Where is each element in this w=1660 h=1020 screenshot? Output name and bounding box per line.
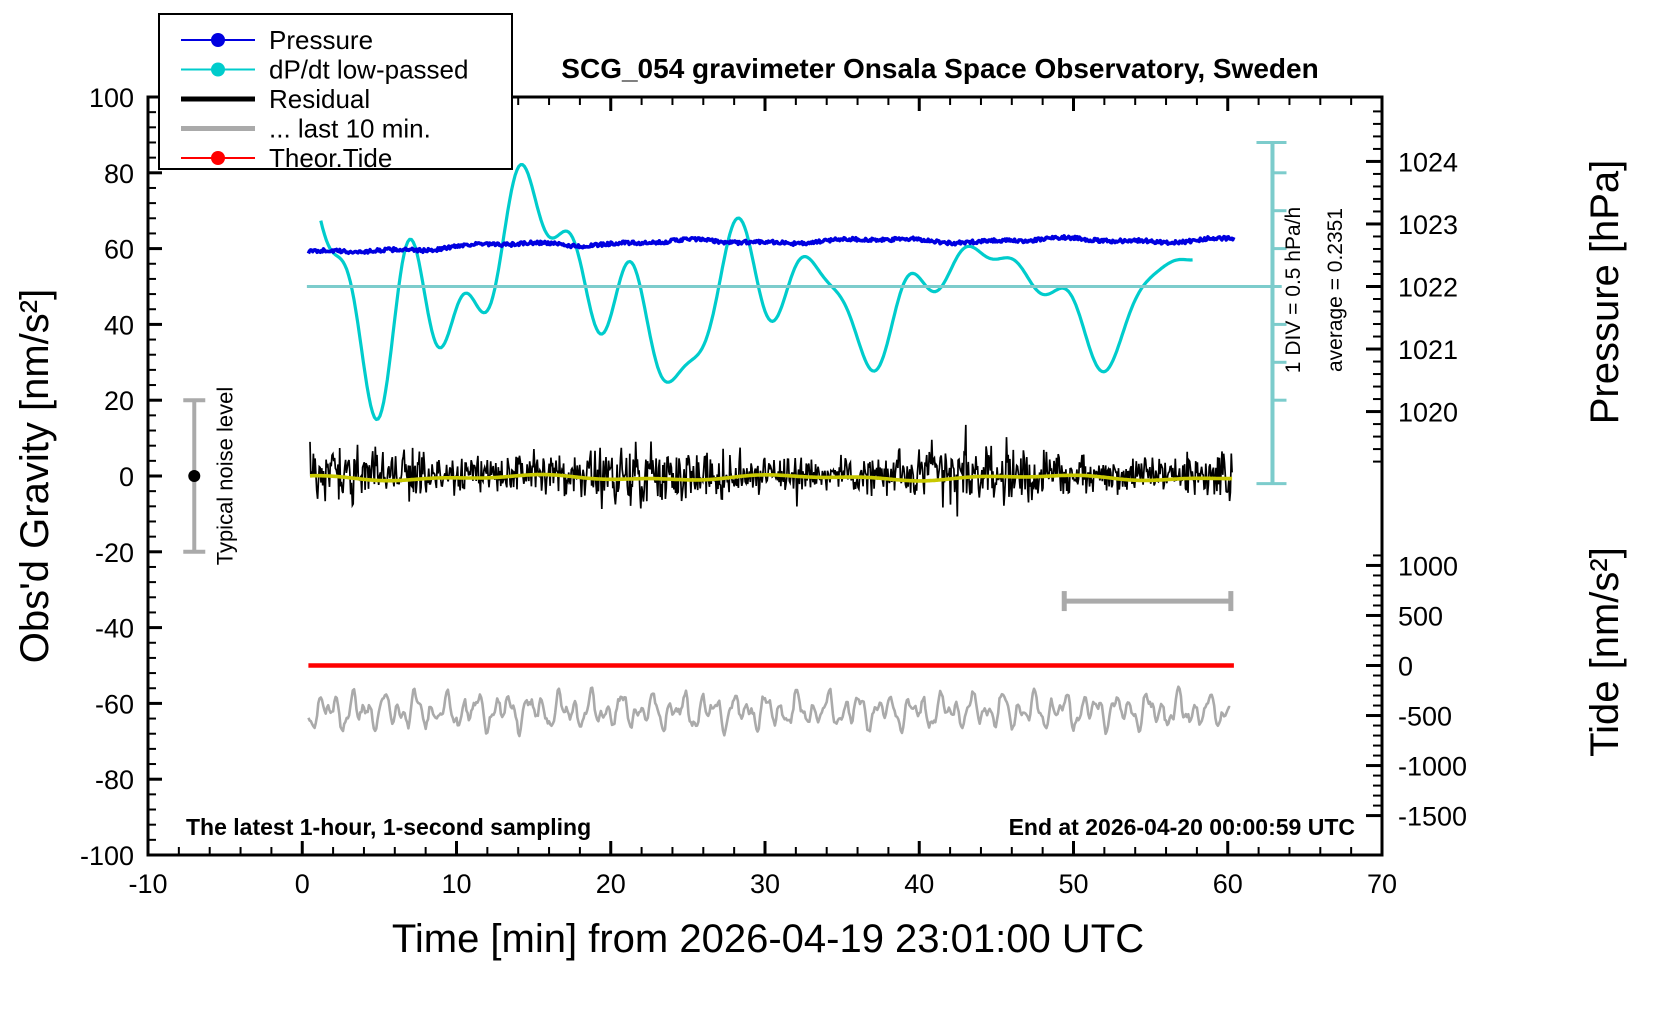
chart-title: SCG_054 gravimeter Onsala Space Observat… <box>561 53 1318 84</box>
xtick-label: 10 <box>441 869 471 899</box>
gravimeter-plot: -100-80-60-40-20020406080100-10010203040… <box>0 0 1660 1020</box>
chart-canvas: -100-80-60-40-20020406080100-10010203040… <box>0 0 1660 1020</box>
x-axis-label: Time [min] from 2026-04-19 23:01:00 UTC <box>392 917 1144 961</box>
legend-label-4: ... last 10 min. <box>269 114 431 144</box>
tide-tick-label: -1000 <box>1398 752 1467 782</box>
ytick-label: -20 <box>95 538 134 568</box>
footer-right-text: End at 2026-04-20 00:00:59 UTC <box>1009 814 1355 840</box>
xtick-label: 20 <box>596 869 626 899</box>
legend-marker-2 <box>211 63 225 77</box>
right-tide-axis-label: Tide [nm/s²] <box>1583 547 1627 757</box>
xtick-label: 70 <box>1367 869 1397 899</box>
tide-tick-label: 500 <box>1398 601 1443 631</box>
noise-level-dot <box>188 470 200 482</box>
ytick-label: -60 <box>95 689 134 719</box>
pressure-tick-label: 1020 <box>1398 398 1458 428</box>
ytick-label: 80 <box>104 159 134 189</box>
legend-marker-5 <box>211 151 225 165</box>
xtick-label: 40 <box>904 869 934 899</box>
pressure-tick-label: 1024 <box>1398 147 1458 177</box>
ytick-label: 60 <box>104 235 134 265</box>
pressure-tick-label: 1023 <box>1398 210 1458 240</box>
xtick-label: -10 <box>128 869 167 899</box>
noise-level-label: Typical noise level <box>212 387 237 566</box>
tide-tick-label: -1500 <box>1398 802 1467 832</box>
ytick-label: -40 <box>95 614 134 644</box>
tide-tick-label: 1000 <box>1398 551 1458 581</box>
xtick-label: 30 <box>750 869 780 899</box>
xtick-label: 50 <box>1058 869 1088 899</box>
legend-label-5: Theor.Tide <box>269 143 392 173</box>
div-scale-label: 1 DIV = 0.5 hPa/h <box>1282 207 1305 373</box>
right-pressure-axis-label: Pressure [hPa] <box>1583 160 1627 425</box>
legend-marker-1 <box>211 33 225 47</box>
tide-tick-label: -500 <box>1398 702 1452 732</box>
pressure-tick-label: 1022 <box>1398 273 1458 303</box>
ytick-label: 100 <box>89 83 134 113</box>
ytick-label: 40 <box>104 310 134 340</box>
legend[interactable]: PressuredP/dt low-passedResidual... last… <box>159 14 512 173</box>
xtick-label: 0 <box>295 869 310 899</box>
ytick-label: -100 <box>80 841 134 871</box>
tide-tick-label: 0 <box>1398 652 1413 682</box>
xtick-label: 60 <box>1213 869 1243 899</box>
legend-label-3: Residual <box>269 84 370 114</box>
ytick-label: 20 <box>104 386 134 416</box>
ytick-label: 0 <box>119 462 134 492</box>
y-axis-label: Obs'd Gravity [nm/s²] <box>13 289 57 663</box>
pressure-tick-label: 1021 <box>1398 335 1458 365</box>
legend-label-2: dP/dt low-passed <box>269 55 468 85</box>
average-label: average = 0.2351 <box>1324 208 1347 372</box>
ytick-label: -80 <box>95 765 134 795</box>
footer-left-text: The latest 1-hour, 1-second sampling <box>186 814 591 840</box>
legend-label-1: Pressure <box>269 25 373 55</box>
